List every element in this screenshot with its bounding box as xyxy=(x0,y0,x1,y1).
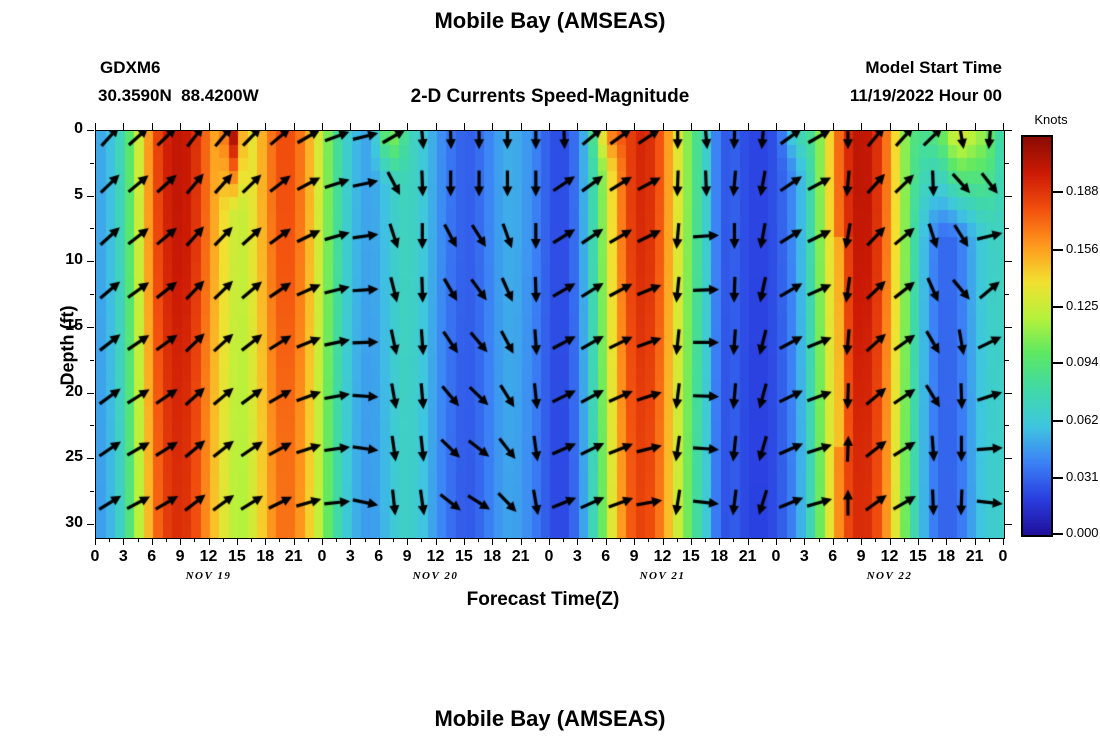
x-axis-tick-top xyxy=(804,123,805,130)
x-axis-tick-top xyxy=(237,123,238,130)
x-axis-tick-top xyxy=(719,123,720,130)
x-axis-tick xyxy=(294,538,295,545)
x-axis-tick xyxy=(95,538,96,545)
x-axis-minor-tick xyxy=(109,538,110,542)
colorbar-tick xyxy=(1053,191,1063,193)
y-axis-tick-right xyxy=(1005,130,1012,131)
x-axis-minor-tick xyxy=(790,538,791,542)
x-axis-tick xyxy=(1003,538,1004,545)
x-axis-minor-tick xyxy=(223,538,224,542)
y-axis-minor-tick xyxy=(90,425,94,426)
x-axis-minor-tick xyxy=(393,538,394,542)
x-axis-day-label: NOV 22 xyxy=(845,570,935,582)
x-axis-minor-tick xyxy=(989,538,990,542)
colorbar xyxy=(1021,135,1053,537)
y-axis-tick-right xyxy=(1005,524,1012,525)
x-axis-minor-tick xyxy=(592,538,593,542)
x-axis-tick-top xyxy=(946,123,947,130)
x-axis-tick-top xyxy=(379,123,380,130)
y-axis-minor-tick-right xyxy=(1005,360,1009,361)
x-axis-tick xyxy=(634,538,635,545)
x-axis-tick xyxy=(918,538,919,545)
x-axis-tick xyxy=(379,538,380,545)
colorbar-gradient xyxy=(1021,135,1053,537)
y-axis-tick-label: 30 xyxy=(39,514,83,532)
y-axis-tick xyxy=(87,458,94,459)
x-axis-minor-tick xyxy=(648,538,649,542)
x-axis-tick xyxy=(521,538,522,545)
x-axis-tick-top xyxy=(634,123,635,130)
colorbar-tick xyxy=(1053,306,1063,308)
y-axis-minor-tick xyxy=(90,228,94,229)
y-axis-tick-label: 0 xyxy=(39,120,83,138)
x-axis-tick xyxy=(833,538,834,545)
x-axis-tick xyxy=(180,538,181,545)
x-axis-tick xyxy=(152,538,153,545)
x-axis-minor-tick xyxy=(450,538,451,542)
x-axis-tick xyxy=(691,538,692,545)
y-axis-tick-label: 5 xyxy=(39,186,83,204)
x-axis-tick xyxy=(946,538,947,545)
colorbar-tick-label: 0.156 xyxy=(1066,241,1099,256)
x-axis-tick xyxy=(322,538,323,545)
x-axis-minor-tick xyxy=(875,538,876,542)
x-axis-tick-top xyxy=(549,123,550,130)
x-axis-tick-top xyxy=(407,123,408,130)
x-axis-tick-top xyxy=(1003,123,1004,130)
x-axis-tick-top xyxy=(890,123,891,130)
colorbar-tick xyxy=(1053,362,1063,364)
x-axis-minor-tick xyxy=(904,538,905,542)
x-axis-tick-top xyxy=(492,123,493,130)
x-axis-tick-top xyxy=(464,123,465,130)
x-axis-tick xyxy=(265,538,266,545)
colorbar-tick-label: 0.000 xyxy=(1066,525,1099,540)
x-axis-tick-top xyxy=(577,123,578,130)
x-axis-tick-top xyxy=(350,123,351,130)
x-axis-tick xyxy=(407,538,408,545)
model-start-time-value: 11/19/2022 Hour 00 xyxy=(0,86,1100,106)
y-axis-tick-right xyxy=(1005,327,1012,328)
x-axis-day-label: NOV 20 xyxy=(391,570,481,582)
x-axis-tick-top xyxy=(152,123,153,130)
x-axis-tick xyxy=(577,538,578,545)
y-axis-tick-right xyxy=(1005,196,1012,197)
y-axis-title: Depth (ft) xyxy=(58,266,79,426)
x-axis-minor-tick xyxy=(138,538,139,542)
x-axis-tick xyxy=(549,538,550,545)
x-axis-minor-tick xyxy=(336,538,337,542)
x-axis-tick-top xyxy=(521,123,522,130)
y-axis-minor-tick-right xyxy=(1005,294,1009,295)
x-axis-tick-top xyxy=(663,123,664,130)
y-axis-minor-tick xyxy=(90,360,94,361)
y-axis-minor-tick-right xyxy=(1005,163,1009,164)
colorbar-tick xyxy=(1053,533,1063,535)
x-axis-minor-tick xyxy=(677,538,678,542)
page-title: Mobile Bay (AMSEAS) xyxy=(0,8,1100,34)
x-axis-minor-tick xyxy=(365,538,366,542)
x-axis-tick-top xyxy=(606,123,607,130)
x-axis-tick-top xyxy=(776,123,777,130)
colorbar-title: Knots xyxy=(1016,112,1086,127)
y-axis-tick-right xyxy=(1005,261,1012,262)
x-axis-tick xyxy=(748,538,749,545)
y-axis-tick xyxy=(87,393,94,394)
y-axis-tick xyxy=(87,261,94,262)
x-axis-tick xyxy=(209,538,210,545)
x-axis-minor-tick xyxy=(620,538,621,542)
y-axis-minor-tick-right xyxy=(1005,425,1009,426)
y-axis-tick xyxy=(87,524,94,525)
x-axis-tick-top xyxy=(861,123,862,130)
x-axis-minor-tick xyxy=(563,538,564,542)
x-axis-tick xyxy=(237,538,238,545)
x-axis-tick xyxy=(719,538,720,545)
x-axis-tick xyxy=(436,538,437,545)
x-axis-minor-tick xyxy=(506,538,507,542)
x-axis-tick xyxy=(890,538,891,545)
x-axis-tick-top xyxy=(975,123,976,130)
y-axis-tick-label: 25 xyxy=(39,448,83,466)
x-axis-minor-tick xyxy=(762,538,763,542)
x-axis-minor-tick xyxy=(421,538,422,542)
x-axis-tick-top xyxy=(833,123,834,130)
x-axis-minor-tick xyxy=(535,538,536,542)
x-axis-title: Forecast Time(Z) xyxy=(0,589,1086,611)
heatmap-plot-area xyxy=(95,130,1005,539)
y-axis-tick-right xyxy=(1005,458,1012,459)
x-axis-tick-top xyxy=(95,123,96,130)
x-axis-minor-tick xyxy=(819,538,820,542)
x-axis-minor-tick xyxy=(847,538,848,542)
y-axis-minor-tick xyxy=(90,491,94,492)
colorbar-tick xyxy=(1053,420,1063,422)
x-axis-tick-top xyxy=(123,123,124,130)
colorbar-tick-label: 0.188 xyxy=(1066,183,1099,198)
x-axis-minor-tick xyxy=(733,538,734,542)
y-axis-minor-tick xyxy=(90,163,94,164)
x-axis-tick xyxy=(804,538,805,545)
x-axis-tick-top xyxy=(918,123,919,130)
x-axis-minor-tick xyxy=(960,538,961,542)
colorbar-tick-label: 0.062 xyxy=(1066,412,1099,427)
footer-title: Mobile Bay (AMSEAS) xyxy=(0,706,1100,732)
x-axis-minor-tick xyxy=(705,538,706,542)
x-axis-tick xyxy=(350,538,351,545)
y-axis-minor-tick-right xyxy=(1005,228,1009,229)
x-axis-minor-tick xyxy=(932,538,933,542)
y-axis-minor-tick-right xyxy=(1005,491,1009,492)
x-axis-tick-top xyxy=(691,123,692,130)
colorbar-tick-label: 0.094 xyxy=(1066,354,1099,369)
model-start-time-label: Model Start Time xyxy=(0,58,1100,78)
y-axis-tick xyxy=(87,130,94,131)
x-axis-minor-tick xyxy=(308,538,309,542)
x-axis-tick xyxy=(663,538,664,545)
y-axis-minor-tick xyxy=(90,294,94,295)
colorbar-tick-label: 0.125 xyxy=(1066,298,1099,313)
x-axis-tick xyxy=(606,538,607,545)
x-axis-tick-top xyxy=(209,123,210,130)
x-axis-minor-tick xyxy=(166,538,167,542)
colorbar-tick-label: 0.031 xyxy=(1066,469,1099,484)
x-axis-tick xyxy=(464,538,465,545)
x-axis-day-label: NOV 19 xyxy=(164,570,254,582)
x-axis-tick xyxy=(776,538,777,545)
current-vector-arrows xyxy=(96,131,1004,538)
x-axis-minor-tick xyxy=(251,538,252,542)
x-axis-tick-top xyxy=(294,123,295,130)
x-axis-tick-top xyxy=(748,123,749,130)
x-axis-minor-tick xyxy=(279,538,280,542)
x-axis-tick-top xyxy=(322,123,323,130)
colorbar-tick xyxy=(1053,477,1063,479)
colorbar-tick xyxy=(1053,249,1063,251)
x-axis-tick-top xyxy=(436,123,437,130)
x-axis-tick xyxy=(861,538,862,545)
x-axis-tick xyxy=(975,538,976,545)
x-axis-tick xyxy=(492,538,493,545)
x-axis-tick-label: 0 xyxy=(983,548,1023,566)
y-axis-tick xyxy=(87,196,94,197)
x-axis-day-label: NOV 21 xyxy=(618,570,708,582)
x-axis-tick-top xyxy=(180,123,181,130)
x-axis-minor-tick xyxy=(194,538,195,542)
y-axis-tick xyxy=(87,327,94,328)
x-axis-tick-top xyxy=(265,123,266,130)
x-axis-tick xyxy=(123,538,124,545)
y-axis-tick-right xyxy=(1005,393,1012,394)
x-axis-minor-tick xyxy=(478,538,479,542)
